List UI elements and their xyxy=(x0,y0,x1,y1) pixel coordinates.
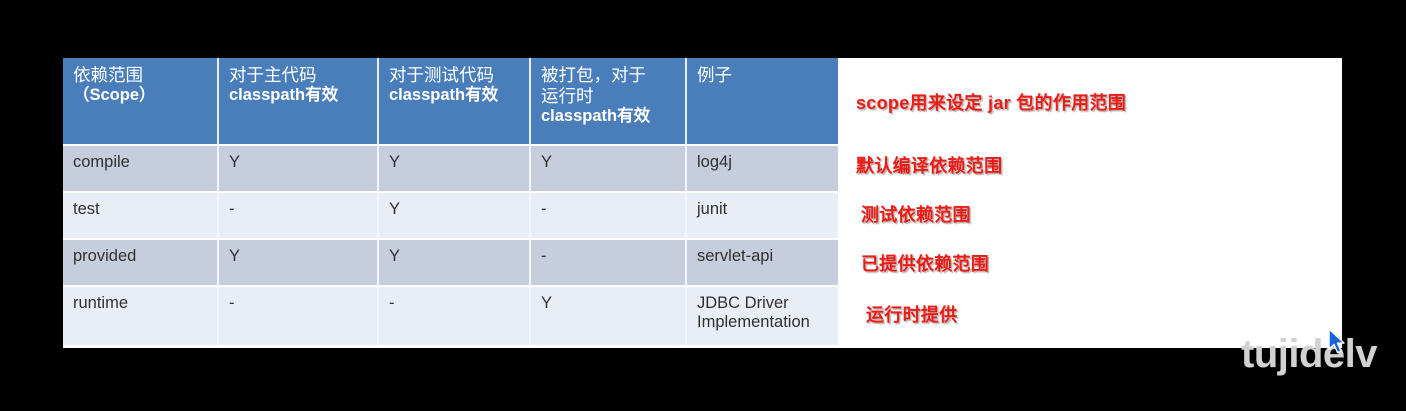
cell-scope: test xyxy=(63,192,218,239)
cell-packaged-runtime: - xyxy=(530,192,686,239)
watermark-tujidelv: tujidelv xyxy=(1241,334,1377,374)
column-header-packaged-runtime: 被打包，对于 运行时 classpath有效 xyxy=(530,58,686,145)
cell-test-classpath: Y xyxy=(378,192,530,239)
cell-example-line1: log4j xyxy=(697,153,829,172)
cell-test-classpath: Y xyxy=(378,239,530,286)
annotation-provided: 已提供依赖范围 xyxy=(861,250,989,276)
column-header-example: 例子 xyxy=(686,58,838,145)
cell-example-line2: Implementation xyxy=(697,313,829,332)
cell-example: servlet-api xyxy=(686,239,838,286)
cell-main-classpath: - xyxy=(218,286,378,345)
cell-scope: compile xyxy=(63,145,218,192)
cell-test-classpath: - xyxy=(378,286,530,345)
column-header-main-classpath-line1: 对于主代码 xyxy=(229,65,368,86)
cell-example: log4j xyxy=(686,145,838,192)
table-row: test - Y - junit xyxy=(63,192,838,239)
mouse-cursor-icon xyxy=(1327,328,1347,356)
annotation-runtime: 运行时提供 xyxy=(866,301,958,327)
cell-scope: provided xyxy=(63,239,218,286)
cell-example: JDBC Driver Implementation xyxy=(686,286,838,345)
table-row: runtime - - Y JDBC Driver Implementation xyxy=(63,286,838,345)
table-row: compile Y Y Y log4j xyxy=(63,145,838,192)
column-header-packaged-runtime-line3: classpath有效 xyxy=(541,107,676,127)
annotation-compile: 默认编译依赖范围 xyxy=(856,152,1002,178)
cell-main-classpath: - xyxy=(218,192,378,239)
column-header-main-classpath: 对于主代码 classpath有效 xyxy=(218,58,378,145)
cell-packaged-runtime: Y xyxy=(530,145,686,192)
annotation-test: 测试依赖范围 xyxy=(861,201,971,227)
column-header-scope-line2: （Scope） xyxy=(73,86,208,106)
cell-scope: runtime xyxy=(63,286,218,345)
table-header-row: 依赖范围 （Scope） 对于主代码 classpath有效 对于测试代码 cl… xyxy=(63,58,838,145)
slide-content-panel: 依赖范围 （Scope） 对于主代码 classpath有效 对于测试代码 cl… xyxy=(63,58,1342,348)
table-row: provided Y Y - servlet-api xyxy=(63,239,838,286)
cell-main-classpath: Y xyxy=(218,145,378,192)
cell-example-line1: junit xyxy=(697,200,829,219)
cell-example: junit xyxy=(686,192,838,239)
column-header-main-classpath-line2: classpath有效 xyxy=(229,86,368,106)
column-header-scope-line1: 依赖范围 xyxy=(73,65,208,86)
column-header-example-line1: 例子 xyxy=(697,65,829,86)
cell-example-line1: servlet-api xyxy=(697,247,829,266)
dependency-scope-table: 依赖范围 （Scope） 对于主代码 classpath有效 对于测试代码 cl… xyxy=(63,58,838,345)
cell-packaged-runtime: - xyxy=(530,239,686,286)
column-header-test-classpath-line2: classpath有效 xyxy=(389,86,520,106)
annotation-scope-definition: scope用来设定 jar 包的作用范围 xyxy=(856,89,1126,115)
cell-test-classpath: Y xyxy=(378,145,530,192)
cell-example-line1: JDBC Driver xyxy=(697,294,829,313)
column-header-test-classpath-line1: 对于测试代码 xyxy=(389,65,520,86)
column-header-packaged-runtime-line1: 被打包，对于 xyxy=(541,65,676,86)
column-header-scope: 依赖范围 （Scope） xyxy=(63,58,218,145)
column-header-test-classpath: 对于测试代码 classpath有效 xyxy=(378,58,530,145)
column-header-packaged-runtime-line2: 运行时 xyxy=(541,86,676,107)
cell-packaged-runtime: Y xyxy=(530,286,686,345)
cell-main-classpath: Y xyxy=(218,239,378,286)
